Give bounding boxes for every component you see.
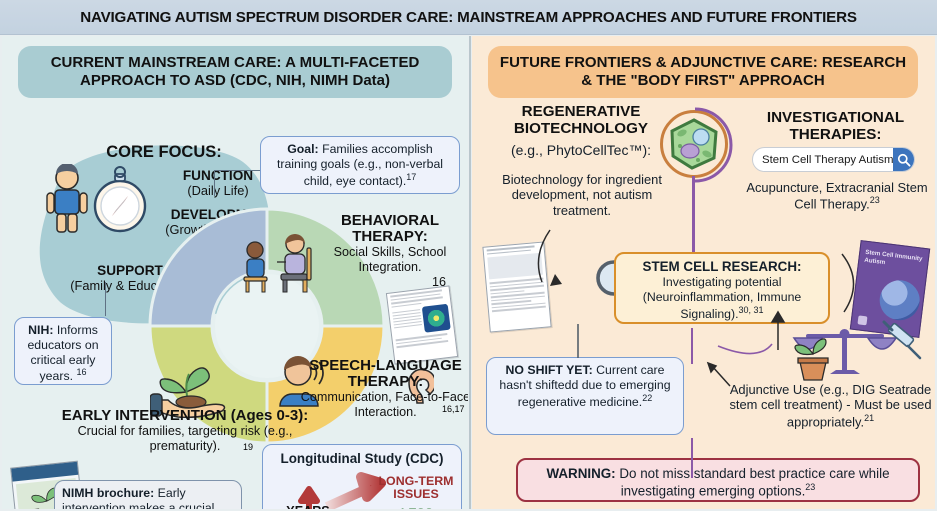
search-icon[interactable]: [893, 148, 914, 171]
longitudinal-title: Longitudinal Study (CDC): [270, 451, 454, 467]
left-panel-header: CURRENT MAINSTREAM CARE: A MULTI-FACETED…: [18, 46, 452, 98]
right-panel-header: FUTURE FRONTIERS & ADJUNCTIVE CARE: RESE…: [488, 46, 918, 98]
goal-callout-lead: Goal:: [287, 142, 318, 156]
nih-callout-lead: NIH:: [28, 323, 53, 337]
search-bar[interactable]: Stem Cell Therapy Autism: [752, 147, 915, 172]
cycle-title: BEHAVIORAL THERAPY:: [320, 213, 460, 245]
search-input[interactable]: Stem Cell Therapy Autism: [753, 154, 893, 166]
infographic-page: NAVIGATING AUTISM SPECTRUM DISORDER CARE…: [0, 0, 937, 511]
longitudinal-outcome-good: LESS SUCCESS: [375, 507, 459, 509]
cycle-ref-speech: 16,17: [442, 404, 465, 414]
nih-callout-ref: 16: [76, 367, 86, 377]
cell-ring-arc: [655, 105, 735, 185]
left-panel: CURRENT MAINSTREAM CARE: A MULTI-FACETED…: [2, 36, 468, 509]
cycle-title: EARLY INTERVENTION (Ages 0-3):: [60, 408, 310, 424]
connector-goal: [214, 170, 262, 171]
nimh-callout-lead: NIMH brochure:: [62, 486, 154, 500]
investigational-title: INVESTIGATIONAL THERAPIES:: [748, 110, 923, 143]
regenerative-title: REGENERATIVE BIOTECHNOLOGY: [486, 104, 676, 137]
cycle-body: Social Skills, School Integration.: [320, 245, 460, 274]
page-title: NAVIGATING AUTISM SPECTRUM DISORDER CARE…: [80, 9, 857, 26]
nih-callout: NIH: Informs educators on critical early…: [14, 317, 112, 385]
research-paper-illustration: [386, 285, 458, 364]
goal-callout: Goal: Families accomplish training goals…: [260, 136, 460, 194]
core-focus-title: CORE FOCUS:: [74, 143, 254, 162]
right-panel-connectors: [480, 190, 937, 490]
nimh-callout: NIMH brochure: Early intervention makes …: [54, 480, 242, 509]
longitudinal-outcome-bad: LONG-TERM ISSUES: [373, 475, 459, 502]
longitudinal-study-box: Longitudinal Study (CDC) YEARS WAITING L…: [262, 444, 462, 509]
connector-nih: [105, 282, 106, 316]
cycle-title: SPEECH-LANGUAGE THERAPY:: [298, 358, 468, 390]
page-title-bar: NAVIGATING AUTISM SPECTRUM DISORDER CARE…: [0, 0, 937, 35]
longitudinal-input-label: YEARS WAITING: [269, 505, 347, 509]
connector-goal-vert: [214, 170, 215, 196]
regenerative-subtitle: (e.g., PhytoCellTec™):: [486, 142, 676, 159]
therapy-session-icon: [237, 232, 323, 294]
cycle-ref-early-intervention: 19: [243, 442, 253, 452]
panel-divider: [469, 36, 471, 509]
cycle-label-behavioral-therapy: BEHAVIORAL THERAPY: Social Skills, Schoo…: [320, 213, 460, 289]
goal-callout-ref: 17: [406, 172, 416, 182]
